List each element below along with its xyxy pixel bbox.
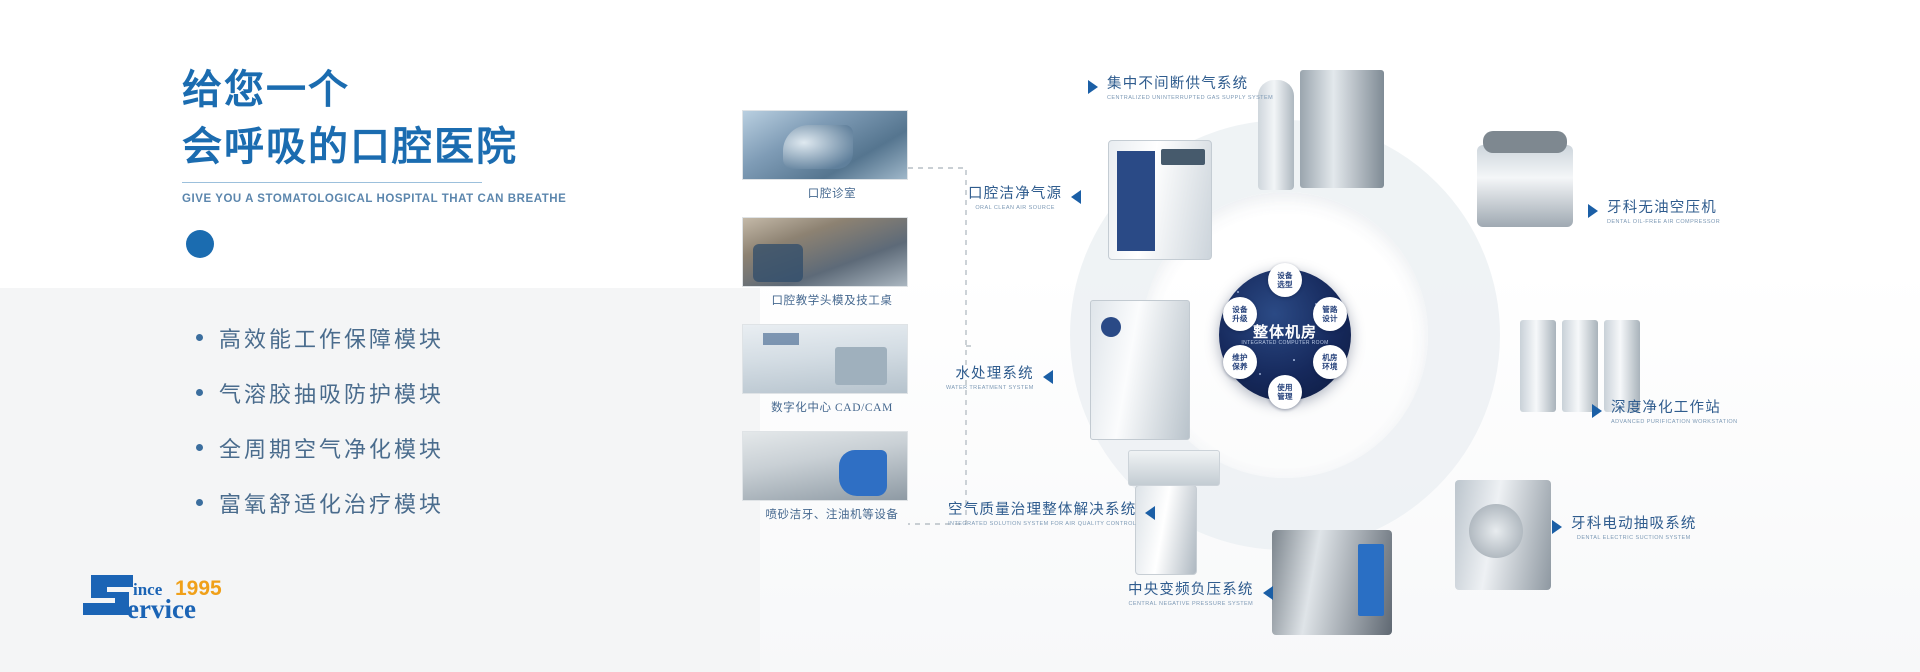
callout-air-quality[interactable]: 空气质量治理整体解决系统 INTEGRATED SOLUTION SYSTEM … (948, 498, 1155, 527)
ceiling-purifier-equipment (1128, 450, 1220, 486)
bullet-dot-icon (196, 389, 203, 396)
hub-node-equipment-upgrade[interactable]: 设备 升级 (1223, 297, 1257, 331)
list-item: 全周期空气净化模块 (196, 420, 656, 475)
title-divider (182, 182, 482, 183)
center-hub: 整体机房 INTEGRATED COMPUTER ROOM 设备 选型 管路 设… (1219, 269, 1351, 401)
headline-line-1: 给您一个 (182, 62, 612, 119)
callout-suction-system[interactable]: 牙科电动抽吸系统 DENTAL ELECTRIC SUCTION SYSTEM (1552, 512, 1697, 541)
water-treatment-equipment (1090, 300, 1190, 440)
oil-free-compressor-equipment (1477, 145, 1573, 227)
arrow-right-icon (1592, 404, 1602, 418)
arrow-right-icon (1552, 520, 1562, 534)
callout-title: 中央变频负压系统 (1128, 578, 1254, 599)
list-item-label: 全周期空气净化模块 (219, 432, 444, 464)
list-item: 富氧舒适化治疗模块 (196, 475, 656, 530)
callout-title: 水处理系统 (946, 362, 1034, 383)
hub-node-room-environment[interactable]: 机房 环境 (1313, 345, 1347, 379)
clean-air-source-equipment (1108, 140, 1212, 260)
brand-logo: ince 1995 ervice (75, 565, 265, 625)
list-item: 高效能工作保障模块 (196, 310, 656, 365)
purification-workstation-equipment (1520, 320, 1556, 412)
node-line-1: 管路 (1322, 305, 1338, 314)
photo-card: 口腔教学头模及技工桌 (742, 217, 922, 308)
electric-suction-equipment (1455, 480, 1551, 590)
callout-subtitle: DENTAL OIL-FREE AIR COMPRESSOR (1607, 219, 1720, 225)
logo-s-mark-icon (83, 575, 133, 615)
list-item-label: 高效能工作保障模块 (219, 322, 444, 354)
decorative-dot-icon (186, 230, 214, 258)
callout-title: 深度净化工作站 (1611, 396, 1738, 417)
feature-module-list: 高效能工作保障模块 气溶胶抽吸防护模块 全周期空气净化模块 富氧舒适化治疗模块 (196, 310, 656, 530)
arrow-left-icon (1145, 506, 1155, 520)
clinic-room-photo (742, 110, 908, 180)
node-line-1: 使用 (1277, 383, 1293, 392)
callout-subtitle: CENTRALIZED UNINTERRUPTED GAS SUPPLY SYS… (1107, 95, 1273, 101)
bullet-dot-icon (196, 334, 203, 341)
photo-card: 数字化中心 CAD/CAM (742, 324, 922, 415)
callout-title: 空气质量治理整体解决系统 (948, 498, 1136, 519)
list-item-label: 气溶胶抽吸防护模块 (219, 377, 444, 409)
list-item: 气溶胶抽吸防护模块 (196, 365, 656, 420)
digital-center-photo (742, 324, 908, 394)
node-line-1: 设备 (1232, 305, 1248, 314)
dashed-connector (906, 160, 976, 532)
logo-service-text: ervice (127, 594, 196, 624)
node-line-1: 维护 (1232, 353, 1248, 362)
callout-subtitle: ADVANCED PURIFICATION WORKSTATION (1611, 419, 1738, 425)
hub-node-equipment-selection[interactable]: 设备 选型 (1268, 263, 1302, 297)
photo-caption: 数字化中心 CAD/CAM (742, 399, 922, 415)
node-line-2: 保养 (1232, 362, 1248, 371)
callout-title: 牙科无油空压机 (1607, 196, 1720, 217)
callout-negative-pressure[interactable]: 中央变频负压系统 CENTRAL NEGATIVE PRESSURE SYSTE… (1128, 578, 1273, 607)
headline-line-2: 会呼吸的口腔医院 (182, 119, 612, 176)
negative-pressure-equipment (1272, 530, 1392, 635)
gas-generator-equipment (1300, 70, 1384, 188)
photo-card: 口腔诊室 (742, 110, 922, 201)
node-line-1: 设备 (1277, 271, 1293, 280)
callout-oral-clean-air[interactable]: 口腔洁净气源 ORAL CLEAN AIR SOURCE (968, 182, 1081, 211)
node-line-1: 机房 (1322, 353, 1338, 362)
bullet-dot-icon (196, 444, 203, 451)
arrow-left-icon (1071, 190, 1081, 204)
page-title: 给您一个 会呼吸的口腔医院 (182, 62, 612, 176)
list-item-label: 富氧舒适化治疗模块 (219, 487, 444, 519)
teaching-simulator-photo (742, 217, 908, 287)
callout-title: 牙科电动抽吸系统 (1571, 512, 1697, 533)
handpiece-equipment-photo (742, 431, 908, 501)
hub-node-maintenance[interactable]: 维护 保养 (1223, 345, 1257, 379)
callout-water-treatment[interactable]: 水处理系统 WATER TREATMENT SYSTEM (946, 362, 1053, 391)
arrow-right-icon (1588, 204, 1598, 218)
photo-caption: 喷砂洁牙、注油机等设备 (742, 506, 922, 522)
photo-caption: 口腔教学头模及技工桌 (742, 292, 922, 308)
hub-node-pipeline-design[interactable]: 管路 设计 (1313, 297, 1347, 331)
callout-title: 口腔洁净气源 (968, 182, 1062, 203)
node-line-2: 设计 (1322, 314, 1338, 323)
arrow-right-icon (1088, 80, 1098, 94)
callout-air-compressor[interactable]: 牙科无油空压机 DENTAL OIL-FREE AIR COMPRESSOR (1588, 196, 1720, 225)
arrow-left-icon (1263, 586, 1273, 600)
photo-caption: 口腔诊室 (742, 185, 922, 201)
callout-subtitle: ORAL CLEAN AIR SOURCE (968, 205, 1062, 211)
photo-card: 喷砂洁牙、注油机等设备 (742, 431, 922, 522)
callout-subtitle: CENTRAL NEGATIVE PRESSURE SYSTEM (1128, 601, 1254, 607)
node-line-2: 升级 (1232, 314, 1248, 323)
node-line-2: 选型 (1277, 280, 1293, 289)
callout-subtitle: WATER TREATMENT SYSTEM (946, 385, 1034, 391)
left-panel: 给您一个 会呼吸的口腔医院 GIVE YOU A STOMATOLOGICAL … (0, 0, 760, 672)
facility-photo-column: 口腔诊室 口腔教学头模及技工桌 数字化中心 CAD/CAM 喷砂洁牙、注油机等设… (742, 110, 922, 538)
callout-title: 集中不间断供气系统 (1107, 72, 1273, 93)
callout-purification-workstation[interactable]: 深度净化工作站 ADVANCED PURIFICATION WORKSTATIO… (1592, 396, 1738, 425)
node-line-2: 环境 (1322, 362, 1338, 371)
callout-subtitle: INTEGRATED SOLUTION SYSTEM FOR AIR QUALI… (948, 521, 1136, 527)
callout-centralized-gas[interactable]: 集中不间断供气系统 CENTRALIZED UNINTERRUPTED GAS … (1088, 72, 1273, 101)
bullet-dot-icon (196, 499, 203, 506)
hub-node-usage-management[interactable]: 使用 管理 (1268, 375, 1302, 409)
node-line-2: 管理 (1277, 392, 1293, 401)
callout-subtitle: DENTAL ELECTRIC SUCTION SYSTEM (1571, 535, 1697, 541)
arrow-left-icon (1043, 370, 1053, 384)
subtitle-english: GIVE YOU A STOMATOLOGICAL HOSPITAL THAT … (182, 193, 602, 205)
